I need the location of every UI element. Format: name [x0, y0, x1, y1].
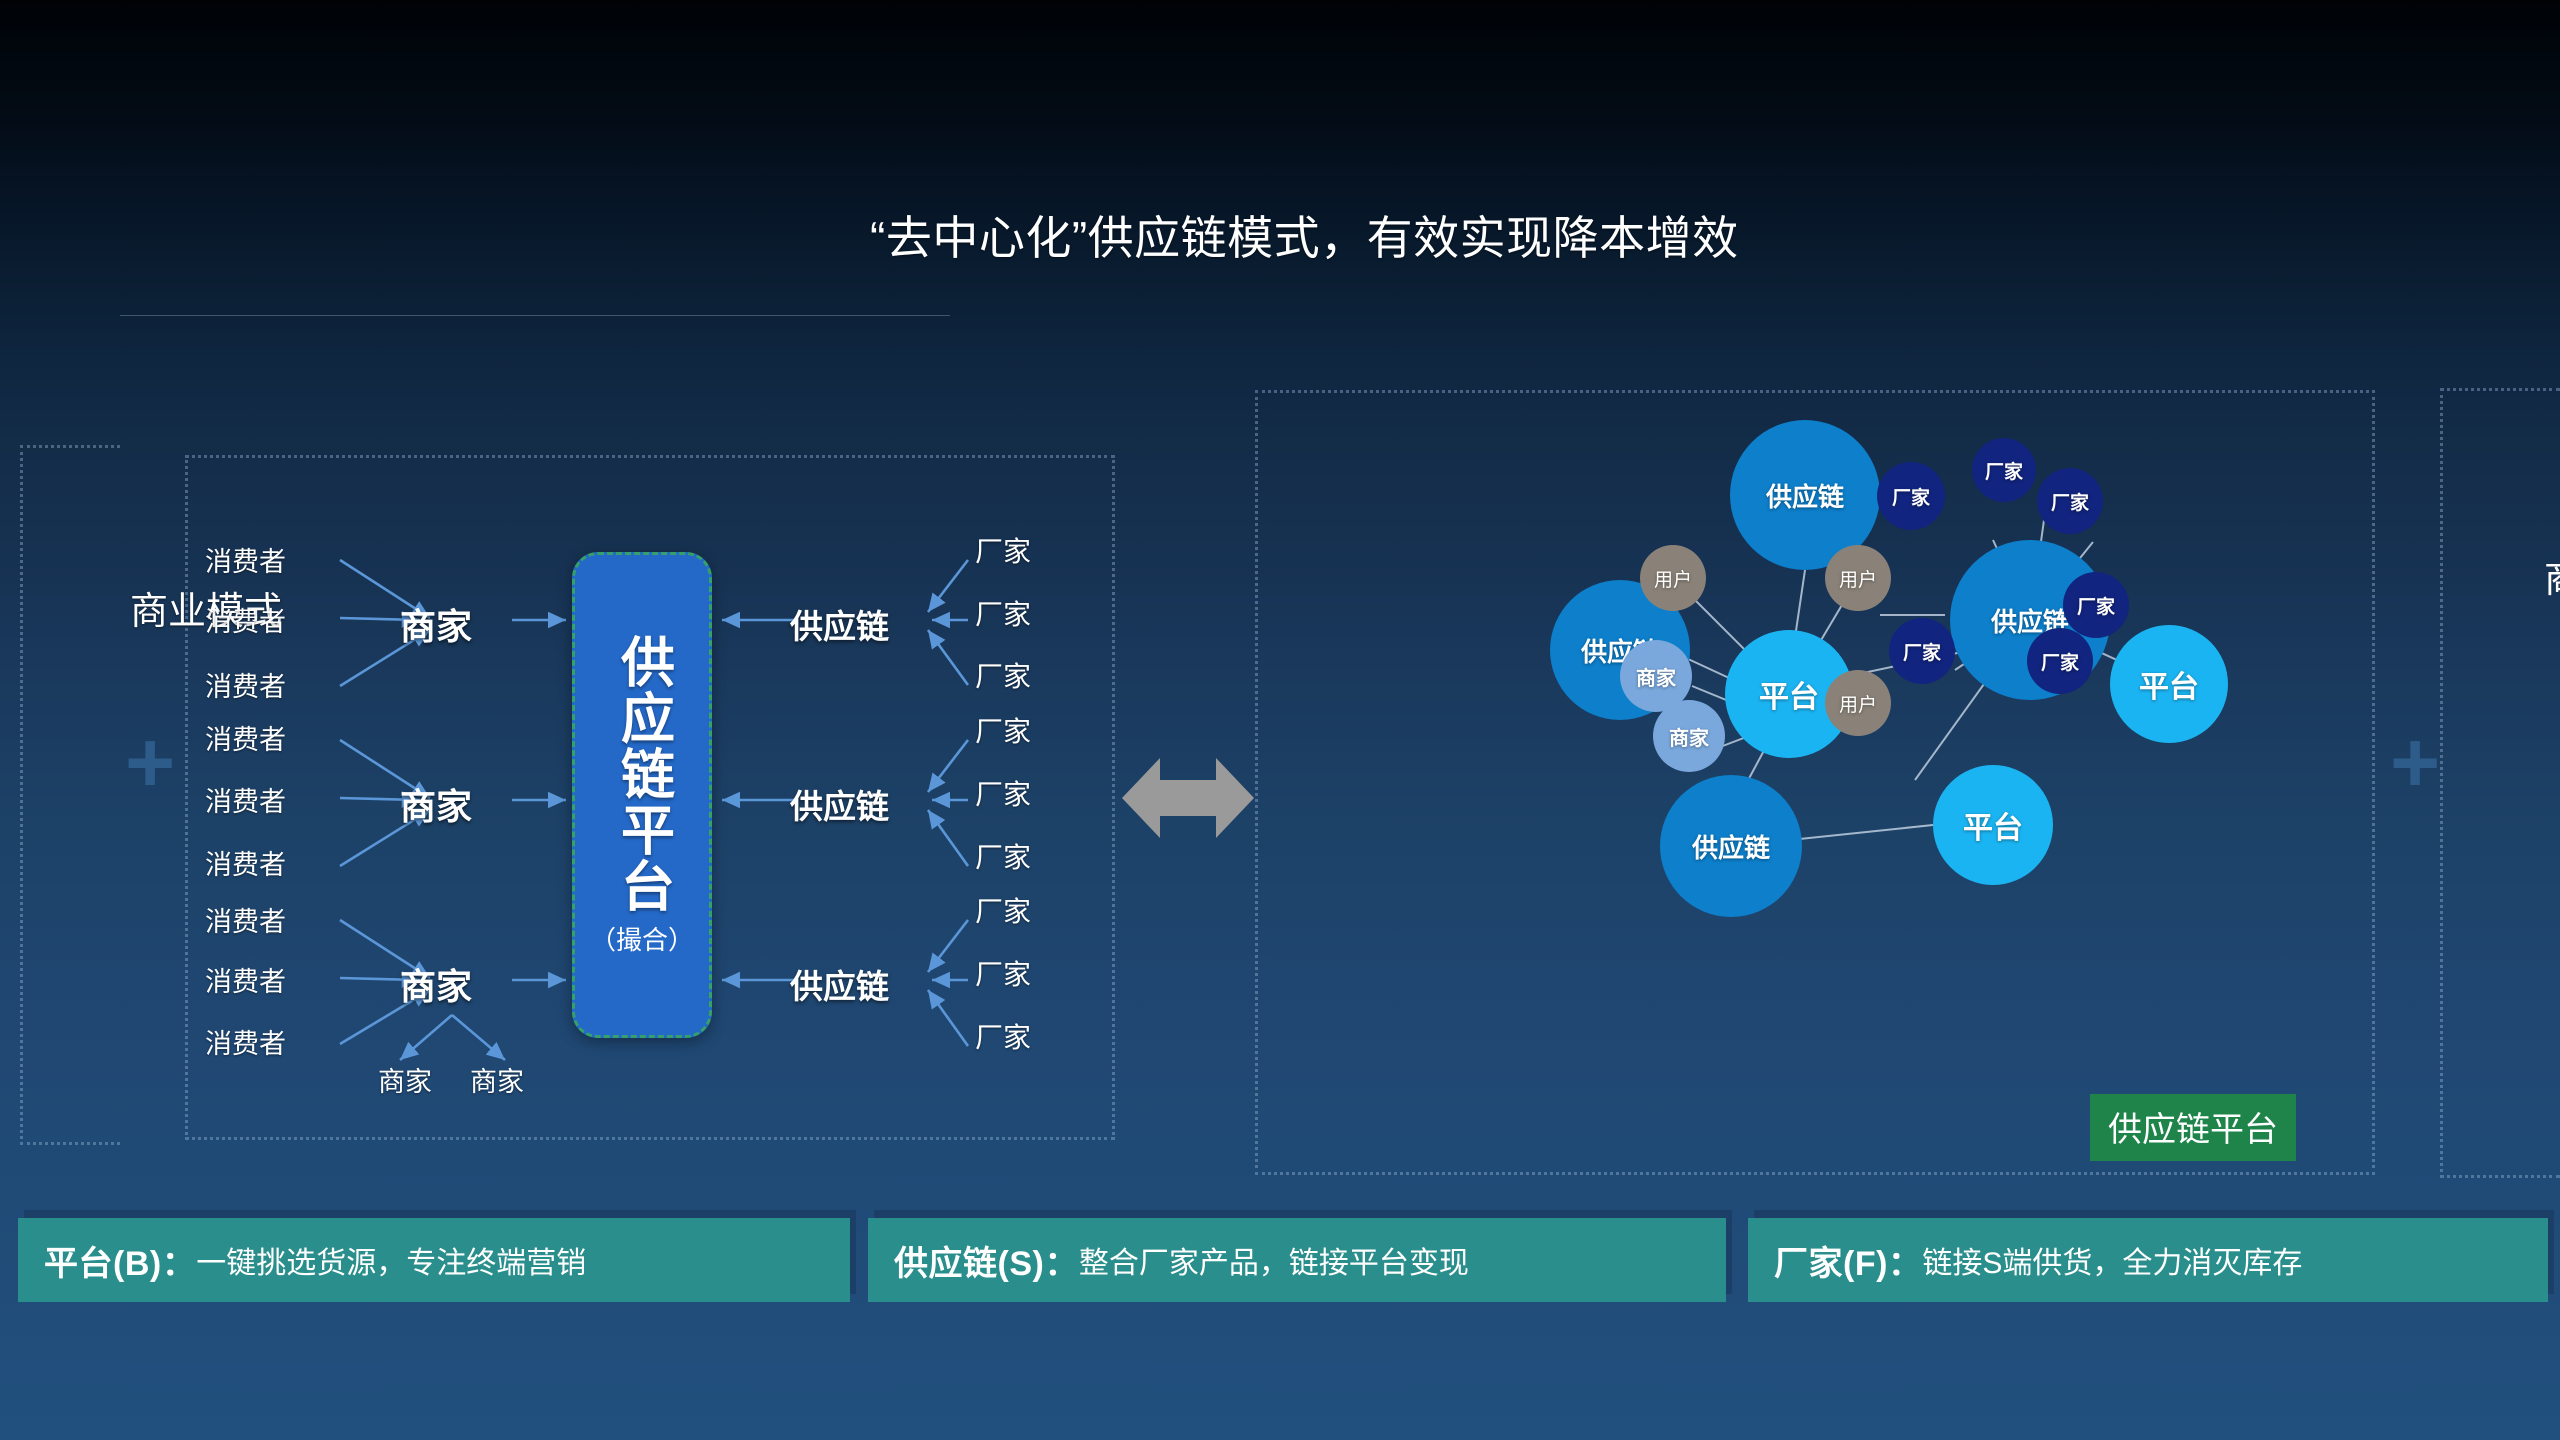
- consumer-label: 消费者: [205, 780, 286, 819]
- merchant-node: 商家: [400, 598, 472, 650]
- network-node-usr: 用户: [1825, 545, 1891, 611]
- network-node-label: 用户: [1839, 565, 1877, 592]
- decentralized-network-diagram: 供应链供应链平台用户用户用户商家商家供应链供应链厂家厂家厂家厂家厂家厂家平台平台: [1255, 390, 2375, 1175]
- merchant-node: 商家: [400, 778, 472, 830]
- consumer-label: 消费者: [205, 843, 286, 882]
- banner-supply-chain[interactable]: 供应链(S)： 整合厂家产品，链接平台变现: [868, 1218, 1726, 1302]
- factory-node: 厂家: [975, 836, 1031, 876]
- network-node-mch: 商家: [1653, 700, 1725, 772]
- supply-chain-platform-title: 供应链平台: [614, 634, 669, 914]
- network-node-fac: 厂家: [1972, 438, 2036, 502]
- factory-node: 厂家: [975, 655, 1031, 695]
- network-node-label: 供应链: [1766, 477, 1844, 514]
- consumer-label: 消费者: [205, 900, 286, 939]
- banner-supply-chain-value: 整合厂家产品，链接平台变现: [1079, 1238, 1469, 1282]
- network-node-fac: 厂家: [1889, 618, 1955, 684]
- page-title-text: “去中心化”供应链模式，有效实现降本增效: [870, 210, 1830, 266]
- consumer-label: 消费者: [205, 600, 286, 639]
- supply-chain-node: 供应链: [790, 960, 889, 1008]
- factory-node: 厂家: [975, 953, 1031, 993]
- consumer-label: 消费者: [205, 1022, 286, 1061]
- merchant-sub-node: 商家: [470, 1060, 524, 1099]
- swap-arrow-icon: [1122, 752, 1254, 844]
- network-node-fac: 厂家: [1877, 462, 1945, 530]
- network-node-label: 平台: [1963, 803, 2023, 847]
- network-node-sc: 供应链: [1660, 775, 1802, 917]
- network-node-pf: 平台: [2110, 625, 2228, 743]
- banner-factory[interactable]: 厂家(F)： 链接S端供货，全力消灭库存: [1748, 1218, 2548, 1302]
- merchant-sub-node: 商家: [378, 1060, 432, 1099]
- factory-node: 厂家: [975, 710, 1031, 750]
- supply-chain-platform-tag: 供应链平台: [2090, 1094, 2296, 1161]
- network-node-label: 供应链: [1692, 828, 1770, 865]
- bottom-banner-row: 平台(B)： 一键挑选货源，专注终端营销 供应链(S)： 整合厂家产品，链接平台…: [0, 1218, 2560, 1318]
- network-node-label: 厂家: [2051, 488, 2089, 515]
- network-node-label: 平台: [1759, 672, 1819, 716]
- outer-frame-left: [20, 445, 120, 1145]
- factory-node: 厂家: [975, 1016, 1031, 1056]
- banner-factory-key: 厂家(F)：: [1774, 1236, 1922, 1285]
- network-node-fac: 厂家: [2037, 468, 2103, 534]
- factory-node: 厂家: [975, 593, 1031, 633]
- banner-platform-value: 一键挑选货源，专注终端营销: [196, 1238, 586, 1282]
- network-node-label: 平台: [2139, 662, 2199, 706]
- consumer-label: 消费者: [205, 540, 286, 579]
- network-node-label: 商家: [1636, 662, 1676, 691]
- page-title: “去中心化”供应链模式，有效实现降本增效: [870, 210, 1830, 266]
- consumer-label: 消费者: [205, 718, 286, 757]
- supply-chain-platform-box: 供应链平台 （撮合）: [572, 552, 712, 1038]
- supply-chain-node: 供应链: [790, 780, 889, 828]
- network-node-label: 用户: [1654, 565, 1692, 592]
- factory-node: 厂家: [975, 530, 1031, 570]
- plus-icon-right: +: [2390, 720, 2440, 806]
- banner-platform[interactable]: 平台(B)： 一键挑选货源，专注终端营销: [18, 1218, 850, 1302]
- network-node-label: 厂家: [2041, 648, 2079, 675]
- network-node-fac: 厂家: [2063, 572, 2129, 638]
- network-node-fac: 厂家: [2027, 628, 2093, 694]
- network-node-label: 厂家: [1985, 457, 2023, 484]
- network-node-label: 商家: [1669, 722, 1709, 751]
- banner-factory-value: 链接S端供货，全力消灭库存: [1922, 1238, 2302, 1282]
- title-divider: [120, 315, 950, 316]
- network-node-label: 厂家: [1903, 638, 1941, 665]
- network-node-label: 用户: [1839, 690, 1877, 717]
- banner-supply-chain-key: 供应链(S)：: [894, 1236, 1079, 1285]
- supply-chain-platform-subtitle: （撮合）: [590, 920, 694, 957]
- consumer-label: 消费者: [205, 665, 286, 704]
- consumer-label: 消费者: [205, 960, 286, 999]
- outer-frame-right: [2440, 388, 2560, 1178]
- network-node-label: 厂家: [2077, 592, 2115, 619]
- network-node-label: 厂家: [1892, 483, 1930, 510]
- clipped-right-label: 商: [2544, 548, 2560, 603]
- factory-node: 厂家: [975, 890, 1031, 930]
- network-node-pf: 平台: [1933, 765, 2053, 885]
- supply-chain-node: 供应链: [790, 600, 889, 648]
- plus-icon-left: +: [125, 720, 175, 806]
- factory-node: 厂家: [975, 773, 1031, 813]
- network-node-usr: 用户: [1825, 670, 1891, 736]
- network-node-usr: 用户: [1640, 545, 1706, 611]
- merchant-node: 商家: [400, 958, 472, 1010]
- banner-platform-key: 平台(B)：: [44, 1236, 196, 1285]
